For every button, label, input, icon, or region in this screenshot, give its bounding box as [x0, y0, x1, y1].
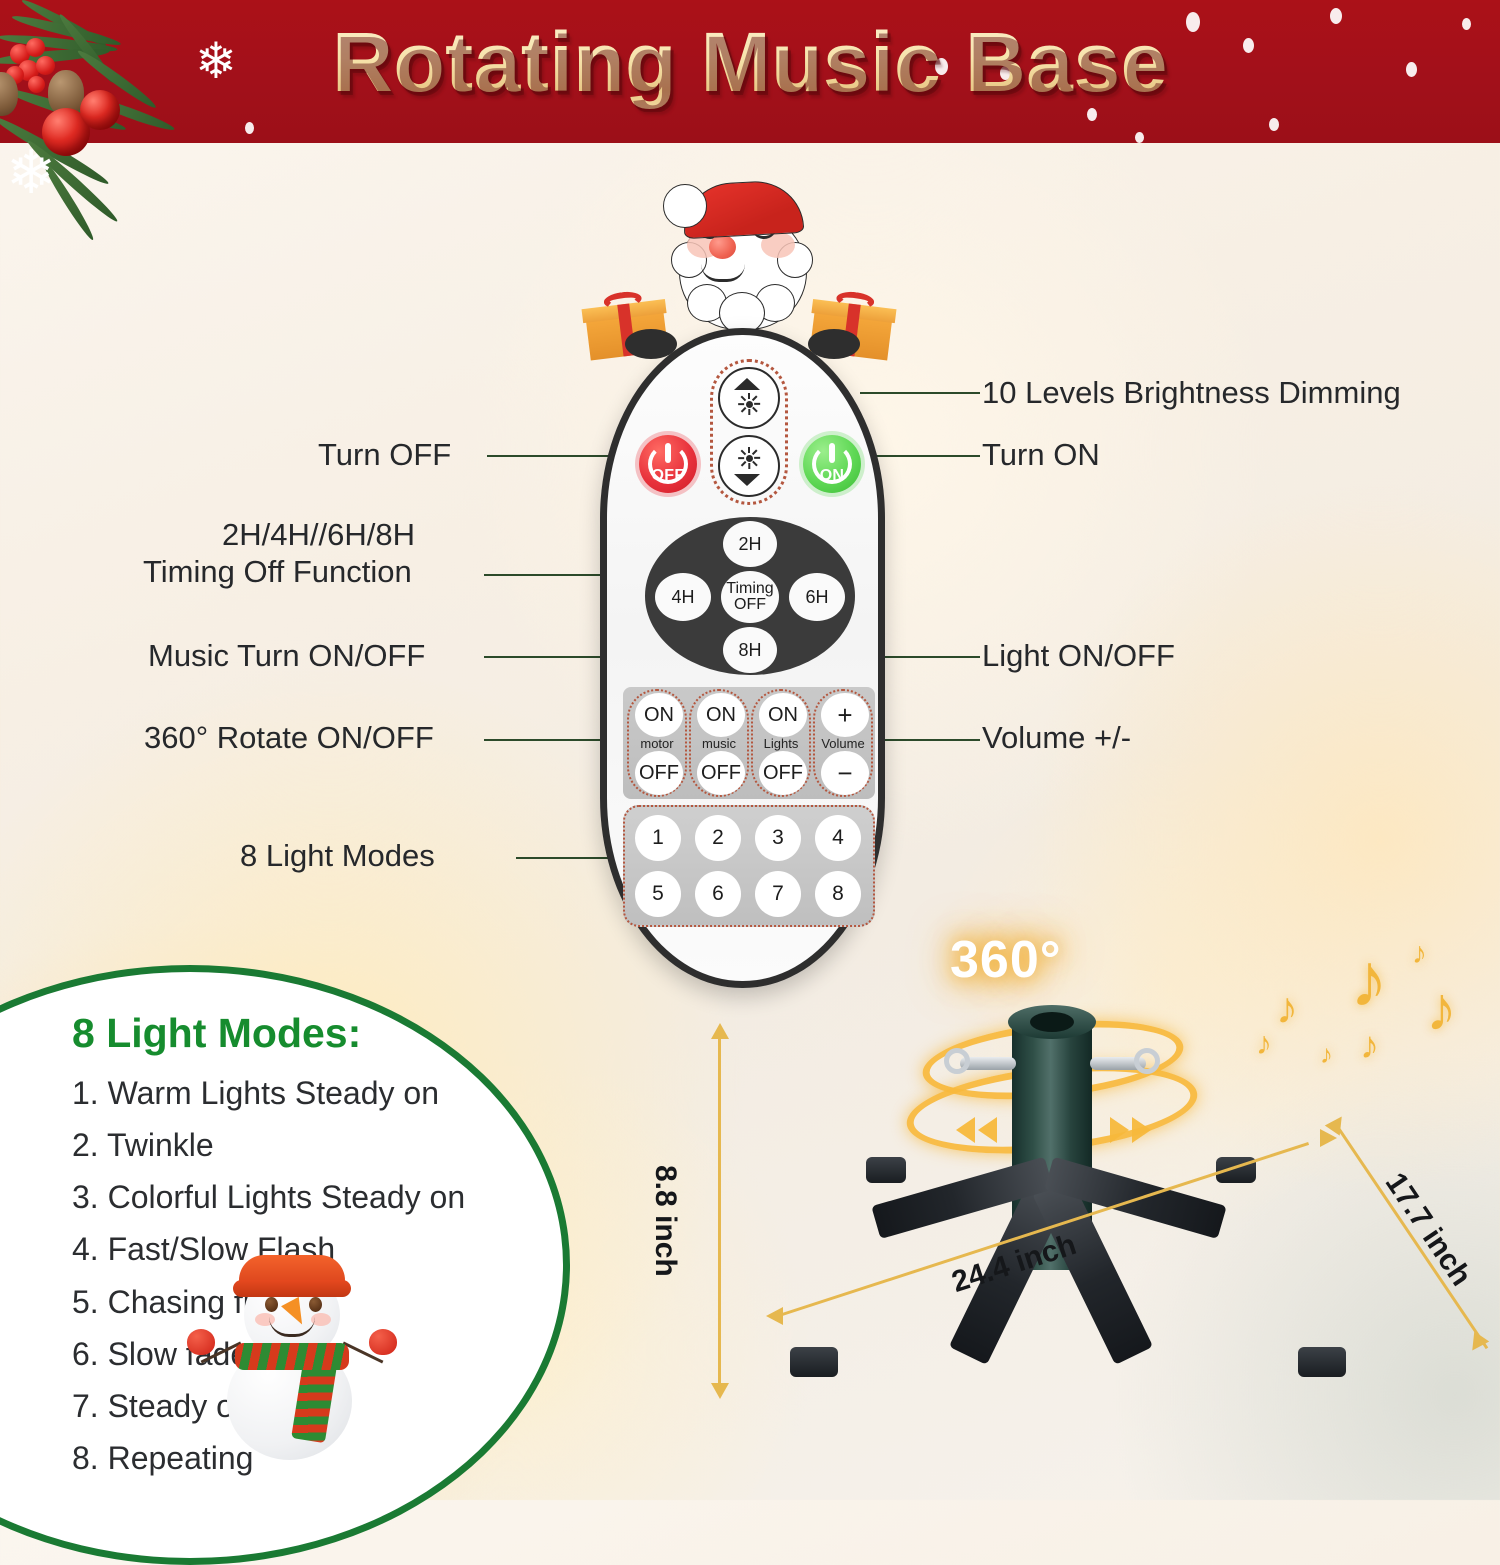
power-icon-bar	[829, 443, 835, 463]
function-column-music: ON music OFF	[689, 689, 749, 797]
power-off-button[interactable]: OFF	[639, 435, 697, 493]
callout-light-toggle: Light ON/OFF	[982, 638, 1175, 674]
snow-dot	[1135, 132, 1144, 143]
power-icon-bar	[665, 443, 671, 463]
mode-button-5[interactable]: 5	[635, 871, 681, 917]
power-on-button[interactable]: ON	[803, 435, 861, 493]
rotation-arrow-icon	[956, 1117, 975, 1143]
light-mode-item: 2. Twinkle	[72, 1119, 542, 1171]
brightness-up-button[interactable]	[718, 367, 780, 429]
light-mode-keypad: 1 2 3 4 5 6 7 8	[623, 805, 875, 927]
timer-off-button[interactable]: Timing OFF	[721, 571, 779, 623]
stand-tube-opening	[1030, 1012, 1074, 1032]
music-note-icon: ♪	[1256, 1027, 1272, 1059]
light-modes-heading: 8 Light Modes:	[72, 1010, 542, 1057]
music-note-icon: ♪	[1320, 1041, 1333, 1067]
callout-light-modes: 8 Light Modes	[240, 838, 435, 874]
tree-stand-product: 360° 8.8 inch 24.4 inch 17.7 inch ♪ ♪ ♪ …	[660, 935, 1500, 1495]
callout-timing-line2: Timing Off Function	[143, 555, 412, 588]
dimension-arrow	[711, 1023, 729, 1039]
callout-turn-on: Turn ON	[982, 437, 1100, 473]
mode-button-8[interactable]: 8	[815, 871, 861, 917]
callout-turn-off: Turn OFF	[318, 437, 451, 473]
timer-off-line1: Timing	[726, 581, 773, 597]
timer-2h-button[interactable]: 2H	[723, 521, 777, 567]
dimension-arrow	[711, 1383, 729, 1399]
power-off-label: OFF	[639, 467, 697, 485]
chevron-up-icon	[734, 378, 760, 390]
function-panel: ON motor OFF ON music OFF ON Lights OFF …	[623, 687, 875, 799]
callout-brightness: 10 Levels Brightness Dimming	[982, 375, 1401, 411]
thumbscrew-eye	[944, 1048, 970, 1074]
timer-4h-button[interactable]: 4H	[655, 573, 711, 621]
sun-icon	[739, 448, 759, 468]
page-title: Rotating Music Base	[0, 14, 1500, 111]
mode-button-4[interactable]: 4	[815, 815, 861, 861]
music-caption: music	[691, 736, 747, 751]
sun-icon	[739, 394, 759, 414]
dimension-label-height: 8.8 inch	[648, 1165, 682, 1277]
callout-music-toggle: Music Turn ON/OFF	[148, 638, 425, 674]
music-on-button[interactable]: ON	[697, 693, 745, 737]
light-mode-item: 1. Warm Lights Steady on	[72, 1067, 542, 1119]
callout-timing-line1: 2H/4H//6H/8H	[222, 518, 415, 551]
header-banner: ❄ Rotating Music Base	[0, 0, 1500, 143]
rotation-arrow-icon	[978, 1117, 997, 1143]
timer-8h-button[interactable]: 8H	[723, 627, 777, 673]
thumbscrew-eye	[1134, 1048, 1160, 1074]
stand-foot	[790, 1347, 838, 1377]
brightness-down-button[interactable]	[718, 435, 780, 497]
music-note-icon: ♪	[1360, 1027, 1379, 1065]
motor-caption: motor	[629, 736, 685, 751]
remote-nub	[625, 329, 677, 359]
motor-off-button[interactable]: OFF	[635, 751, 683, 795]
snowman-icon	[187, 1247, 397, 1462]
remote-body: OFF ON 2H 4H Timing OFF 6H 8H ON motor O…	[600, 328, 885, 988]
callout-volume: Volume +/-	[982, 720, 1131, 756]
dimension-line-height	[718, 1035, 721, 1385]
music-note-icon: ♪	[1350, 943, 1388, 1019]
function-column-volume: + Volume −	[813, 689, 873, 797]
rotation-arrow-icon	[1132, 1117, 1151, 1143]
lights-off-button[interactable]: OFF	[759, 751, 807, 795]
timer-pad: 2H 4H Timing OFF 6H 8H	[645, 517, 855, 675]
lights-caption: Lights	[753, 736, 809, 751]
mode-button-3[interactable]: 3	[755, 815, 801, 861]
remote-control: OFF ON 2H 4H Timing OFF 6H 8H ON motor O…	[575, 180, 905, 1000]
chevron-down-icon	[734, 474, 760, 486]
volume-up-button[interactable]: +	[821, 693, 869, 737]
santa-icon	[657, 180, 827, 340]
dimension-arrow	[766, 1307, 783, 1325]
mode-button-7[interactable]: 7	[755, 871, 801, 917]
mode-button-6[interactable]: 6	[695, 871, 741, 917]
function-column-lights: ON Lights OFF	[751, 689, 811, 797]
stand-foot	[1298, 1347, 1346, 1377]
volume-caption: Volume	[815, 736, 871, 751]
dimension-label-depth: 17.7 inch	[1378, 1167, 1478, 1292]
mode-button-2[interactable]: 2	[695, 815, 741, 861]
music-off-button[interactable]: OFF	[697, 751, 745, 795]
light-mode-item: 3. Colorful Lights Steady on	[72, 1171, 542, 1223]
power-on-label: ON	[803, 467, 861, 485]
rotation-arrow-icon	[1110, 1117, 1129, 1143]
snow-dot	[1269, 118, 1279, 131]
music-note-icon: ♪	[1412, 939, 1427, 969]
music-note-icon: ♪	[1426, 979, 1457, 1041]
timer-off-line2: OFF	[734, 597, 766, 613]
callout-rotate-toggle: 360° Rotate ON/OFF	[144, 720, 434, 756]
rotation-badge: 360°	[950, 930, 1062, 990]
function-column-motor: ON motor OFF	[627, 689, 687, 797]
lights-on-button[interactable]: ON	[759, 693, 807, 737]
stand-foot	[866, 1157, 906, 1183]
snow-dot	[245, 122, 254, 134]
music-note-icon: ♪	[1276, 987, 1298, 1031]
volume-down-button[interactable]: −	[821, 751, 869, 795]
motor-on-button[interactable]: ON	[635, 693, 683, 737]
mode-button-1[interactable]: 1	[635, 815, 681, 861]
light-modes-panel: 8 Light Modes: 1. Warm Lights Steady on …	[0, 965, 570, 1565]
dimension-arrow	[1465, 1331, 1489, 1355]
snowflake-icon: ❄	[6, 138, 56, 208]
timer-6h-button[interactable]: 6H	[789, 573, 845, 621]
remote-nub	[808, 329, 860, 359]
